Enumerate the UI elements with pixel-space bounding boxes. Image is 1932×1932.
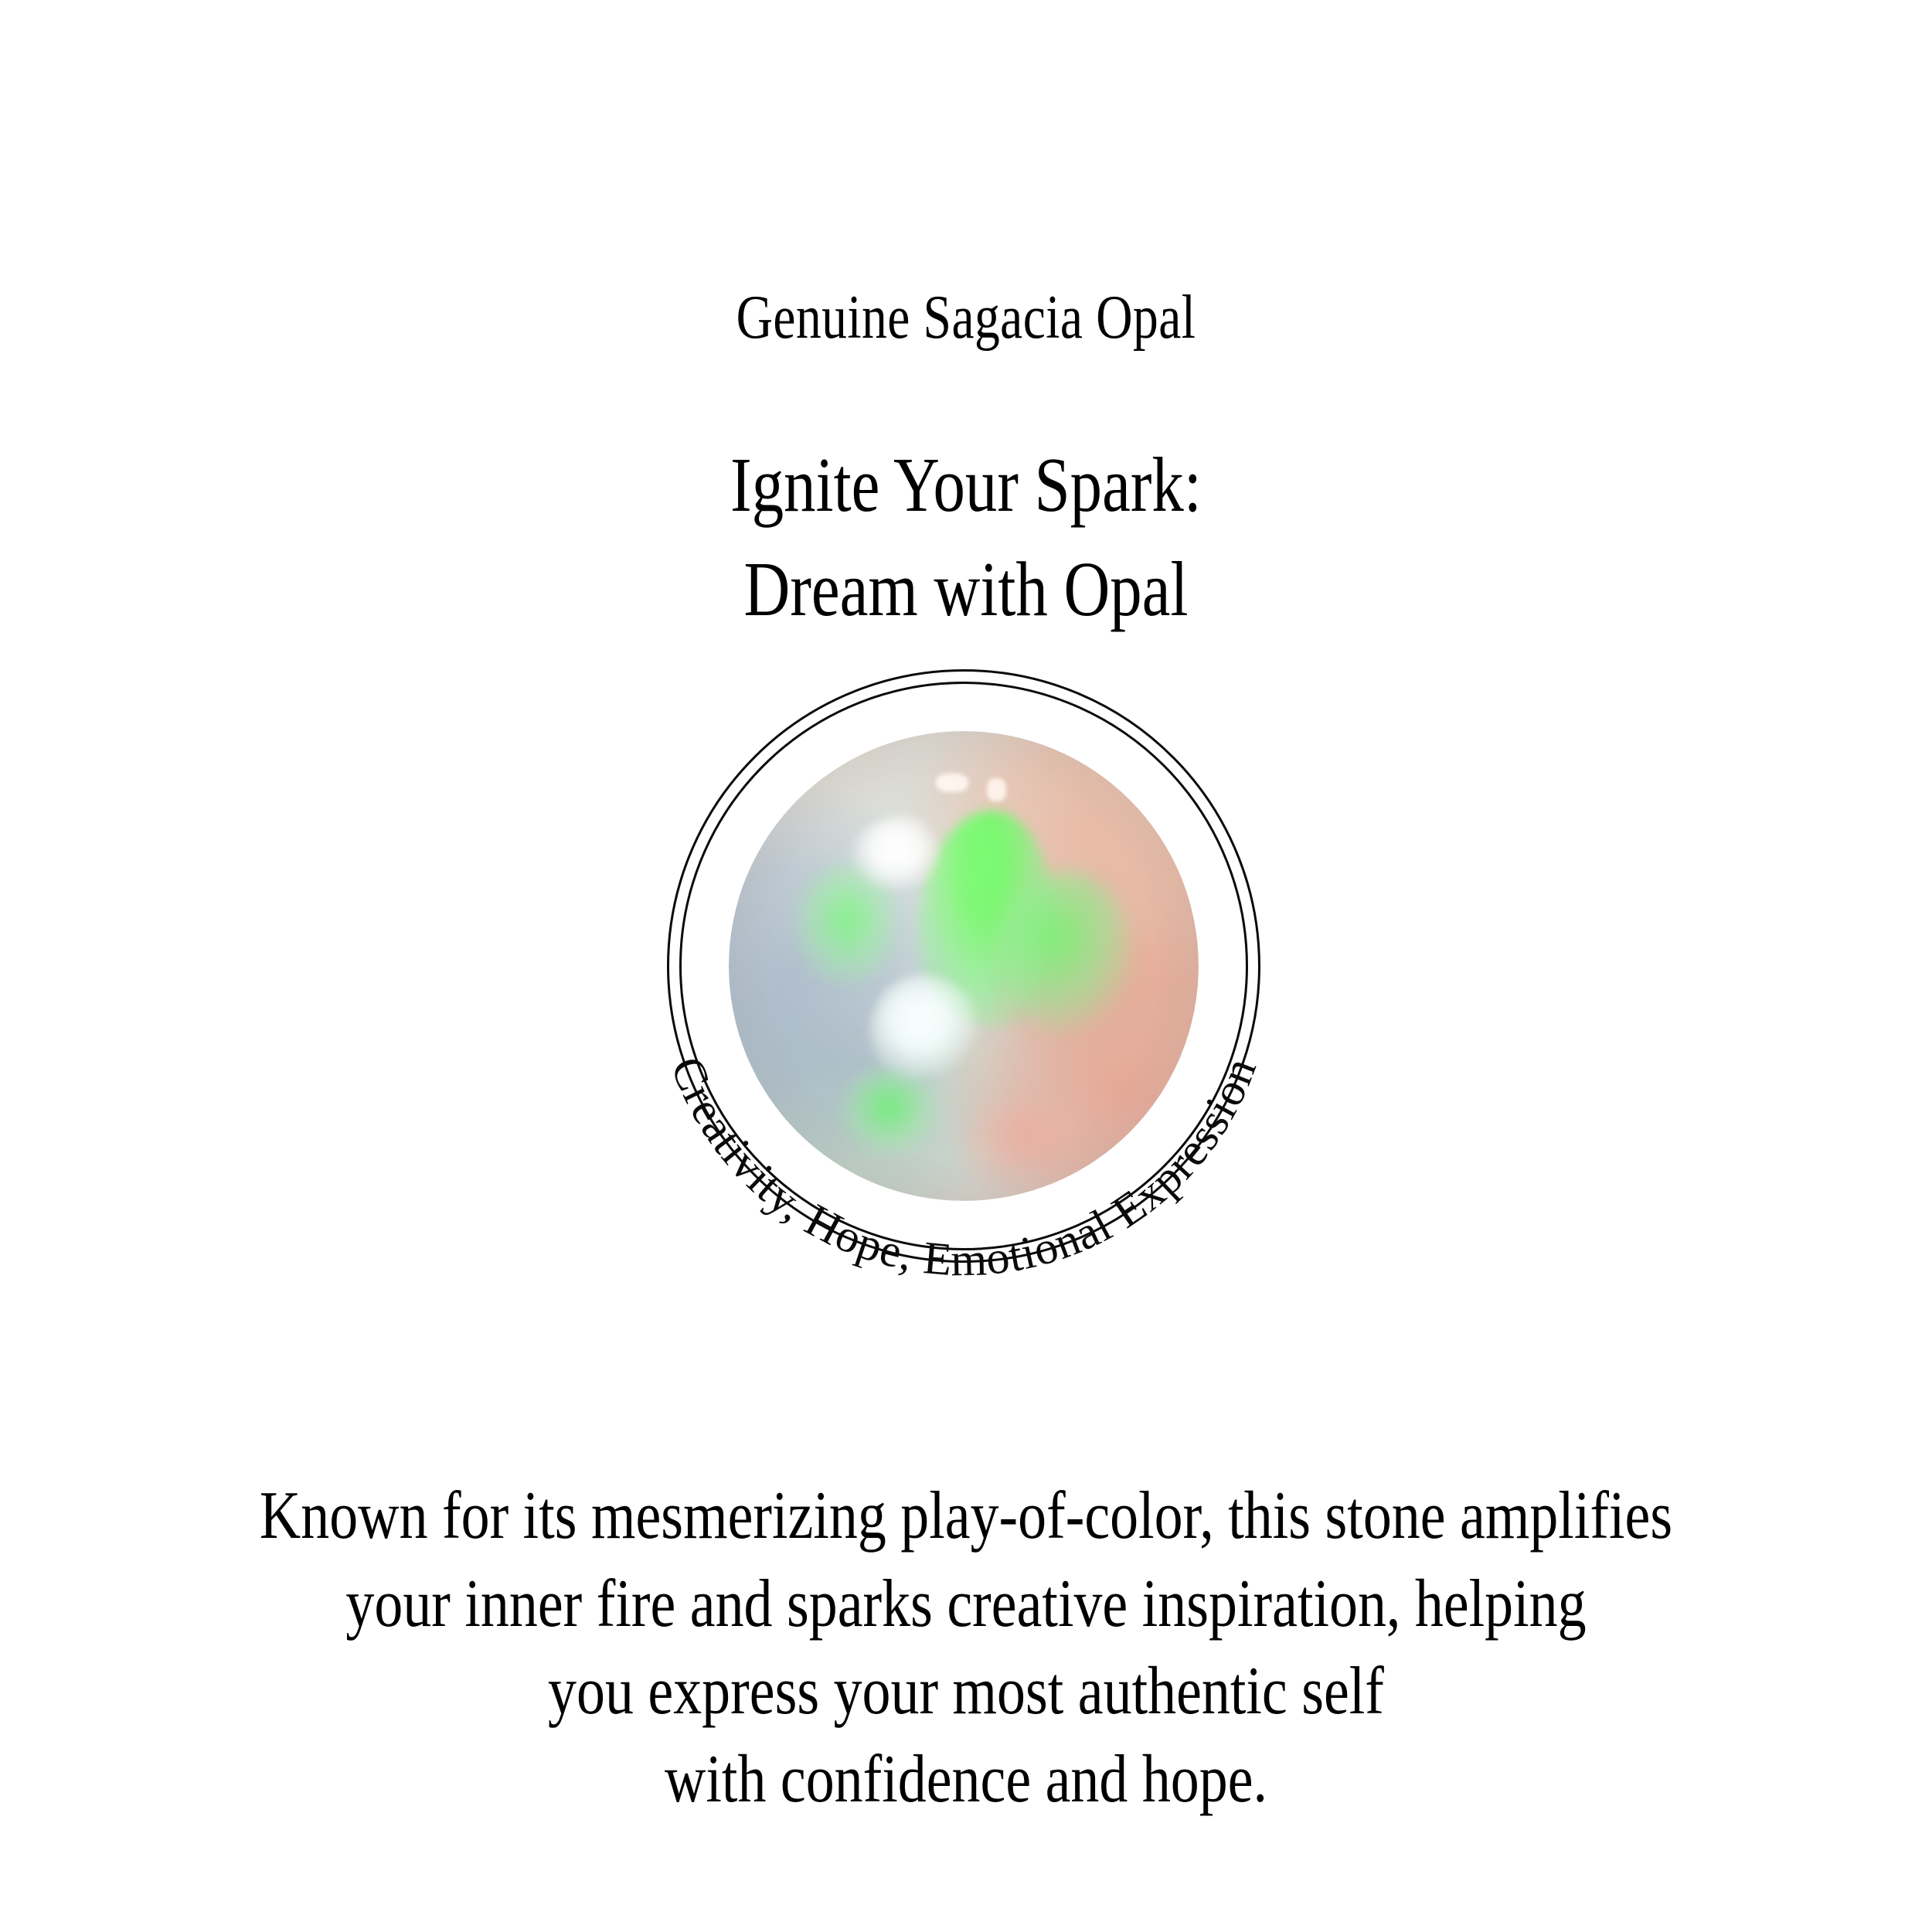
product-eyebrow-label: Genuine Sagacia Opal — [174, 287, 1758, 349]
product-description: Known for its mesmerizing play-of-color,… — [155, 1472, 1777, 1823]
description-line-3: you express your most authentic self — [155, 1648, 1777, 1736]
opal-cabochon-image — [729, 731, 1199, 1201]
description-line-1: Known for its mesmerizing play-of-color,… — [155, 1472, 1777, 1560]
headline-line-2: Dream with Opal — [174, 537, 1758, 641]
description-line-2: your inner fire and sparks creative insp… — [155, 1560, 1777, 1648]
page-title: Ignite Your Spark: Dream with Opal — [174, 433, 1758, 642]
headline-line-1: Ignite Your Spark: — [174, 433, 1758, 537]
description-line-4: with confidence and hope. — [155, 1736, 1777, 1824]
opal-product-card: Genuine Sagacia Opal Ignite Your Spark: … — [0, 0, 1932, 1932]
opal-dome-shading — [729, 731, 1199, 1201]
